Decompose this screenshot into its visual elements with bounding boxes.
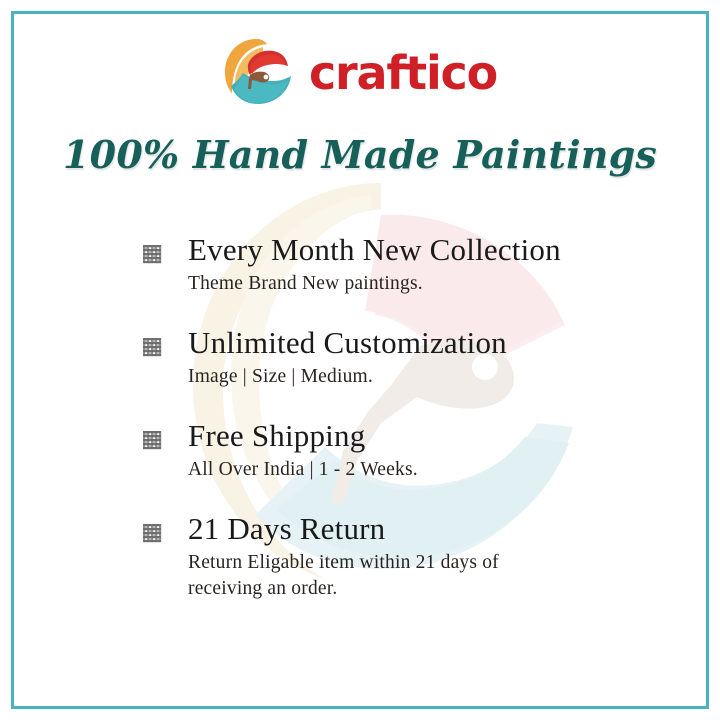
woven-square-bullet-icon: [142, 523, 162, 543]
list-item: 21 Days Return Return Eligable item with…: [142, 511, 612, 602]
feature-title: Every Month New Collection: [188, 232, 612, 268]
brand-lockup: craftico: [0, 34, 720, 108]
page-title: 100% Hand Made Paintings: [0, 132, 720, 177]
feature-subtitle: Return Eligable item within 21 days of r…: [188, 550, 548, 602]
woven-square-bullet-icon: [142, 337, 162, 357]
feature-subtitle: All Over India | 1 - 2 Weeks.: [188, 457, 612, 483]
feature-list: Every Month New Collection Theme Brand N…: [142, 232, 612, 602]
list-item: Free Shipping All Over India | 1 - 2 Wee…: [142, 418, 612, 483]
brand-wordmark: craftico: [309, 50, 497, 96]
list-item: Unlimited Customization Image | Size | M…: [142, 325, 612, 390]
woven-square-bullet-icon: [142, 430, 162, 450]
woven-square-bullet-icon: [142, 244, 162, 264]
feature-title: Unlimited Customization: [188, 325, 612, 361]
feature-subtitle: Image | Size | Medium.: [188, 364, 612, 390]
feature-title: 21 Days Return: [188, 511, 612, 547]
craftico-logo-icon: [223, 37, 293, 105]
feature-subtitle: Theme Brand New paintings.: [188, 271, 612, 297]
list-item: Every Month New Collection Theme Brand N…: [142, 232, 612, 297]
feature-title: Free Shipping: [188, 418, 612, 454]
promo-banner: craftico 100% Hand Made Paintings: [0, 0, 720, 720]
